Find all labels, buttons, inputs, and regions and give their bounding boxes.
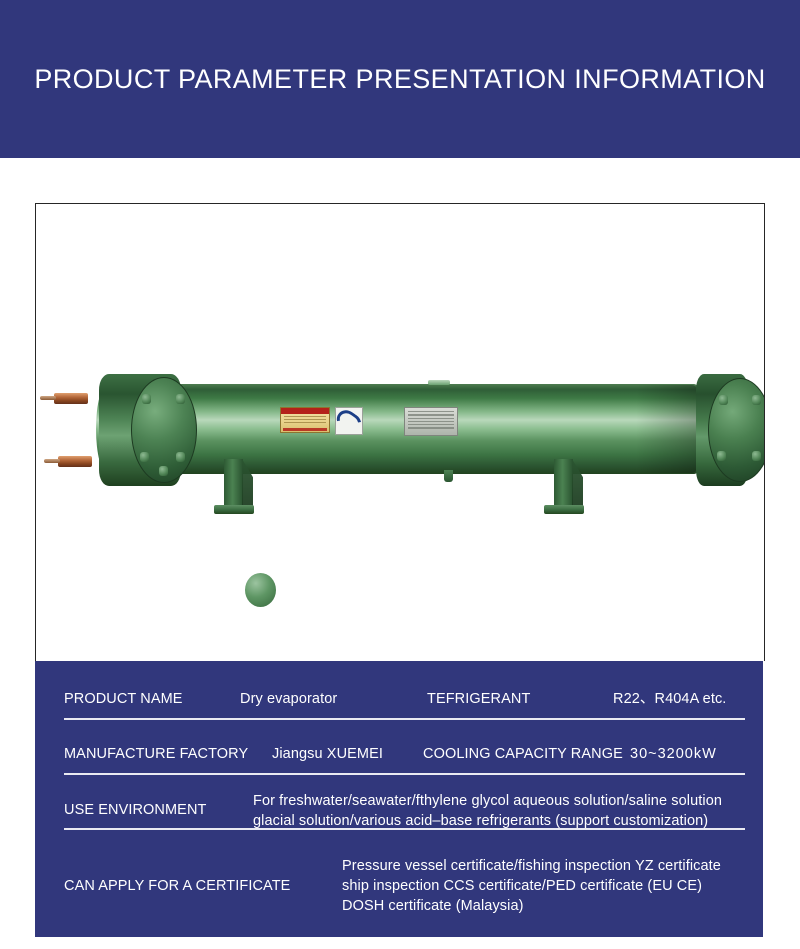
heat-exchanger-illustration [36, 204, 765, 661]
spec-value-manufacture-factory: Jiangsu XUEMEI [272, 745, 383, 764]
spec-label-manufacture-factory: MANUFACTURE FACTORY [64, 745, 248, 764]
flange-bolt-icon [752, 395, 761, 405]
flange-bolt-icon [140, 452, 149, 462]
nameplate [404, 407, 458, 436]
copper-nozzle-lower-stub [44, 459, 60, 463]
nameplate-textline [408, 427, 454, 428]
saddle-web [554, 459, 573, 507]
table-divider [64, 773, 745, 775]
saddle-gusset [242, 459, 253, 507]
product-image-panel [35, 203, 765, 661]
warning-sticker [280, 407, 330, 433]
spec-value-cooling-capacity-range: 30~3200kW [630, 745, 717, 764]
spec-value-can-apply-for-a-certificate: Pressure vessel certificate/fishing insp… [342, 856, 772, 916]
saddle-foot [544, 505, 584, 514]
nameplate-textline [408, 418, 454, 419]
nameplate-textline [408, 411, 454, 412]
flange-bolt-icon [717, 451, 726, 461]
left-center-cap [245, 573, 276, 607]
copper-nozzle-upper-stub [40, 396, 56, 400]
warning-sticker-textline [284, 422, 326, 423]
spec-label-use-environment: USE ENVIRONMENT [64, 801, 207, 820]
spec-value-refrigerant: R22、R404A etc. [613, 690, 726, 709]
warning-sticker-textline [284, 416, 326, 417]
nameplate-textline [408, 421, 454, 422]
saddle-web [224, 459, 243, 507]
left-flange-cover [131, 377, 197, 483]
copper-nozzle-upper [54, 393, 88, 404]
spec-label-product-name: PRODUCT NAME [64, 690, 183, 709]
spec-label-cooling-capacity-range: COOLING CAPACITY RANGE [423, 745, 623, 764]
saddle-foot [214, 505, 254, 514]
flange-bolt-icon [752, 451, 761, 461]
saddle-support-left [214, 459, 254, 515]
spec-label-refrigerant: TEFRIGERANT [427, 690, 530, 709]
table-divider [64, 828, 745, 830]
certification-logo-sticker [335, 407, 363, 435]
swoosh-icon [333, 406, 365, 436]
spec-value-product-name: Dry evaporator [240, 690, 337, 709]
specification-table: PRODUCT NAME Dry evaporator TEFRIGERANT … [35, 661, 763, 937]
right-flange-cover [708, 378, 765, 482]
nameplate-textline [408, 424, 454, 425]
flange-bolt-icon [176, 452, 185, 462]
warning-sticker-textline [284, 419, 326, 420]
saddle-support-right [544, 459, 584, 515]
flange-bolt-icon [176, 394, 185, 404]
spec-value-use-environment: For freshwater/seawater/fthylene glycol … [253, 791, 753, 831]
warning-sticker-footer [283, 428, 327, 431]
page-header: PRODUCT PARAMETER PRESENTATION INFORMATI… [0, 0, 800, 158]
page-title: PRODUCT PARAMETER PRESENTATION INFORMATI… [34, 64, 765, 95]
spec-label-can-apply-for-a-certificate: CAN APPLY FOR A CERTIFICATE [64, 877, 290, 896]
saddle-gusset [572, 459, 583, 507]
warning-sticker-header [281, 408, 329, 414]
flange-bolt-icon [719, 395, 728, 405]
flange-bolt-icon [159, 466, 168, 476]
nameplate-textline [408, 414, 454, 415]
drain-nozzle [444, 470, 453, 482]
flange-bolt-icon [142, 394, 151, 404]
copper-nozzle-lower [58, 456, 92, 467]
vessel-top-vent-nub [428, 380, 450, 385]
table-divider [64, 718, 745, 720]
